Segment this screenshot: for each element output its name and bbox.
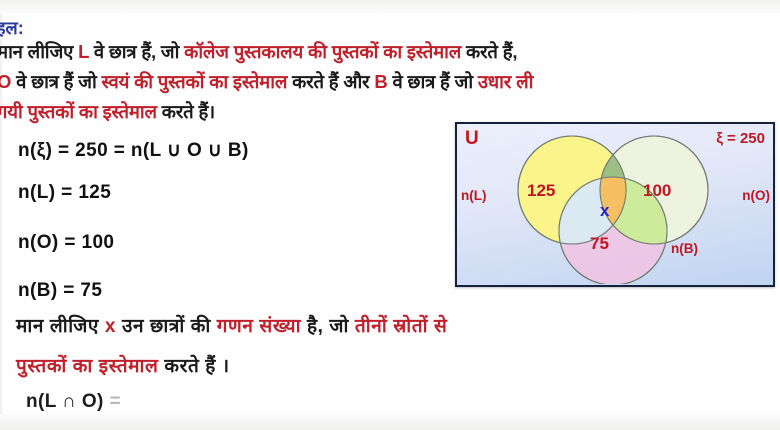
text-run-1: करते हैं।	[157, 101, 215, 122]
problem-statement-line-3: गयी पुस्तकों का इस्तेमाल करते हैं।	[0, 99, 215, 124]
universal-set-label: U	[465, 128, 479, 150]
page-top-edge	[0, 0, 780, 13]
text-run-1: L	[78, 41, 89, 62]
venn-center-unknown-label: x	[600, 201, 609, 221]
venn-circles-svg	[457, 124, 772, 284]
page-canvas: हल: मान लीजिए L वे छात्र हैं, जो कॉलेज प…	[0, 0, 780, 430]
final-equation-trailing: =	[104, 391, 121, 412]
equation-total-union: n(ξ) = 250 = n(L ∪ O ∪ B)	[18, 139, 249, 162]
closing-statement-line-1: मान लीजिए x उन छात्रों की गणन संख्या है,…	[16, 312, 447, 338]
venn-label-n-O: n(O)	[742, 188, 770, 203]
universal-set-count-label: ξ = 250	[716, 130, 765, 147]
text-run-6: उधार ली	[478, 71, 533, 92]
text-run-1: x	[105, 316, 116, 337]
venn-label-n-B: n(B)	[671, 241, 698, 256]
venn-diagram: U ξ = 250 n(L) n(O) n(B) 125 100 75 x	[455, 122, 775, 287]
equation-n-L: n(L) = 125	[18, 182, 111, 204]
text-run-3: गणन संख्या	[217, 316, 301, 337]
page-bottom-edge	[0, 414, 780, 430]
text-run-3: करते हैं और	[287, 71, 374, 92]
venn-count-L: 125	[527, 181, 555, 201]
text-run-0: गयी पुस्तकों का इस्तेमाल	[0, 101, 157, 122]
text-run-1: वे छात्र हैं जो	[11, 71, 101, 92]
text-run-2: वे छात्र हैं, जो	[89, 41, 184, 62]
equation-n-L-intersect-O: n(L ∩ O) =	[26, 391, 121, 413]
text-run-4: B	[374, 71, 387, 92]
solution-heading: हल:	[0, 16, 24, 40]
problem-statement-line-1: मान लीजिए L वे छात्र हैं, जो कॉलेज पुस्त…	[0, 39, 517, 64]
venn-count-O: 100	[643, 181, 671, 201]
text-run-5: तीनों स्रोतों से	[355, 316, 448, 337]
text-run-0: मान लीजिए	[0, 41, 78, 62]
text-run-2: स्वयं की पुस्तकों का इस्तेमाल	[102, 71, 288, 92]
closing-statement-line-2: पुस्तकों का इस्तेमाल करते हैं ।	[16, 352, 230, 378]
problem-statement-line-2: O वे छात्र हैं जो स्वयं की पुस्तकों का इ…	[0, 69, 533, 94]
final-equation-text: n(L ∩ O)	[26, 391, 104, 412]
text-run-1: करते हैं ।	[159, 356, 230, 377]
text-run-2: उन छात्रों की	[116, 316, 217, 337]
text-run-3: कॉलेज पुस्तकालय की पुस्तकों का इस्तेमाल	[184, 41, 461, 62]
text-run-0: मान लीजिए	[16, 316, 105, 337]
venn-count-B: 75	[590, 234, 609, 254]
text-run-0: पुस्तकों का इस्तेमाल	[16, 356, 159, 377]
text-run-4: है, जो	[301, 316, 355, 337]
equation-n-B: n(B) = 75	[18, 280, 102, 302]
text-run-0: O	[0, 71, 11, 92]
text-run-5: वे छात्र हैं जो	[388, 71, 478, 92]
equation-n-O: n(O) = 100	[18, 232, 114, 254]
venn-label-n-L: n(L)	[461, 188, 486, 203]
text-run-4: करते हैं,	[461, 41, 517, 62]
